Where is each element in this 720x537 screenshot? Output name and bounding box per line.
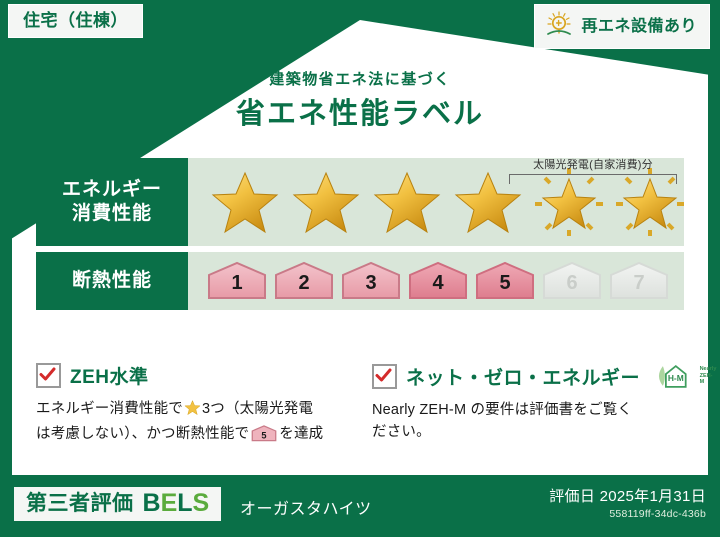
- bels-wordmark: BELS: [143, 491, 210, 516]
- solar-sun-icon: [544, 10, 574, 43]
- building-name: オーガスタハイツ: [240, 495, 372, 519]
- insulation-grade-2: 2: [273, 260, 335, 302]
- star-3: [368, 165, 446, 239]
- insulation-grade-7-value: 7: [608, 272, 670, 295]
- zeh-criterion: ZEH水準 エネルギー消費性能で3つ（太陽光発電 は考慮しない）、かつ断熱性能で…: [36, 362, 350, 451]
- energy-performance-row: エネルギー 消費性能 太陽光発電(自家消費)分: [36, 158, 684, 246]
- solar-contribution-annotation: 太陽光発電(自家消費)分: [503, 156, 683, 184]
- star-2: [287, 165, 365, 239]
- insulation-grade-4-value: 4: [407, 272, 469, 295]
- evaluation-date: 評価日 2025年1月31日: [549, 485, 706, 506]
- zeh-criterion-header: ZEH水準: [36, 362, 350, 389]
- insulation-grade-6: 6: [541, 260, 603, 302]
- bels-badge: 第三者評価 BELS: [14, 487, 221, 521]
- bels-letter-l: L: [177, 489, 192, 517]
- insulation-performance-label: 断熱性能: [36, 252, 188, 310]
- svg-text:5: 5: [262, 431, 267, 441]
- insulation-grade-4: 4: [407, 260, 469, 302]
- criteria-section: ZEH水準 エネルギー消費性能で3つ（太陽光発電 は考慮しない）、かつ断熱性能で…: [36, 362, 686, 451]
- third-party-label: 第三者評価: [26, 493, 134, 514]
- nze-criterion-header: ネット・ゼロ・エネルギー H-M Nearly ZEH-M: [372, 362, 686, 390]
- label-footer: 第三者評価 BELS オーガスタハイツ 評価日 2025年1月31日 55811…: [0, 477, 720, 537]
- inline-star-icon: [184, 404, 201, 420]
- bels-letter-s: S: [193, 489, 210, 517]
- insulation-label-line1: 断熱性能: [72, 269, 152, 293]
- nze-criterion-title: ネット・ゼロ・エネルギー: [406, 363, 640, 390]
- star-1: [206, 165, 284, 239]
- label-subtitle: 建築物省エネ法に基づく: [0, 68, 720, 89]
- zeh-m-caption-line2: ZEH-M: [700, 373, 713, 386]
- renewable-equipment-badge: 再エネ設備あり: [534, 4, 710, 49]
- insulation-grade-2-value: 2: [273, 272, 335, 295]
- inline-insulation-house-icon: 5: [251, 431, 277, 447]
- solar-annotation-label: 太陽光発電(自家消費)分: [503, 156, 683, 172]
- insulation-grade-scale: 1 2 3: [188, 252, 684, 310]
- energy-label-line1: エネルギー: [62, 178, 162, 202]
- zeh-body-part2: は考慮しない）、かつ断熱性能で: [36, 426, 249, 442]
- zeh-m-logo: H-M Nearly ZEH-M: [653, 362, 717, 390]
- solar-annotation-bracket: [509, 174, 677, 184]
- insulation-grade-1: 1: [206, 260, 268, 302]
- zeh-body-part1: エネルギー消費性能で: [36, 401, 183, 417]
- insulation-performance-row: 断熱性能: [36, 252, 684, 310]
- energy-label-line2: 消費性能: [72, 202, 152, 226]
- bels-energy-label: 住宅（住棟） 再エネ設備あり 建築物省エネ法に基づ: [0, 0, 720, 537]
- bels-letter-b: B: [143, 489, 161, 517]
- building-type-badge: 住宅（住棟）: [8, 4, 143, 38]
- check-icon: [39, 366, 56, 383]
- insulation-grade-1-value: 1: [206, 272, 268, 295]
- bels-letter-e: E: [161, 489, 178, 517]
- evaluation-id: 558119ff-34dc-436b: [609, 508, 706, 520]
- nze-checkbox[interactable]: [372, 364, 397, 389]
- insulation-grade-5-value: 5: [474, 272, 536, 295]
- zeh-m-caption-line1: Nearly: [700, 366, 717, 372]
- zeh-criterion-body: エネルギー消費性能で3つ（太陽光発電 は考慮しない）、かつ断熱性能で5を達成: [36, 398, 350, 451]
- zeh-body-stars: 3つ（太陽光発電: [202, 401, 313, 417]
- zeh-body-part3: を達成: [279, 426, 323, 442]
- nze-body-line2: ださい。: [372, 424, 431, 440]
- insulation-grade-3-value: 3: [340, 272, 402, 295]
- insulation-grade-3: 3: [340, 260, 402, 302]
- insulation-grade-5: 5: [474, 260, 536, 302]
- nze-criterion: ネット・ゼロ・エネルギー H-M Nearly ZEH-M Nearly ZEH…: [372, 362, 686, 451]
- zeh-criterion-title: ZEH水準: [70, 362, 149, 389]
- check-icon: [375, 367, 392, 384]
- insulation-house-row: 1 2 3: [188, 260, 670, 302]
- performance-panel: ハウスメイト エネルギー 消費性能 太陽光発電(自家消費)分: [36, 158, 684, 310]
- nze-body-line1: Nearly ZEH-M の要件は評価書をご覧く: [372, 402, 632, 418]
- nze-criterion-body: Nearly ZEH-M の要件は評価書をご覧く ださい。: [372, 399, 686, 444]
- zeh-checkbox[interactable]: [36, 363, 61, 388]
- insulation-grade-7: 7: [608, 260, 670, 302]
- renewable-badge-label: 再エネ設備あり: [581, 19, 697, 35]
- energy-star-rating: 太陽光発電(自家消費)分: [188, 158, 689, 246]
- page-title: 省エネ性能ラベル: [0, 90, 720, 132]
- svg-text:H-M: H-M: [668, 373, 684, 383]
- insulation-grade-6-value: 6: [541, 272, 603, 295]
- energy-performance-label: エネルギー 消費性能: [36, 158, 188, 246]
